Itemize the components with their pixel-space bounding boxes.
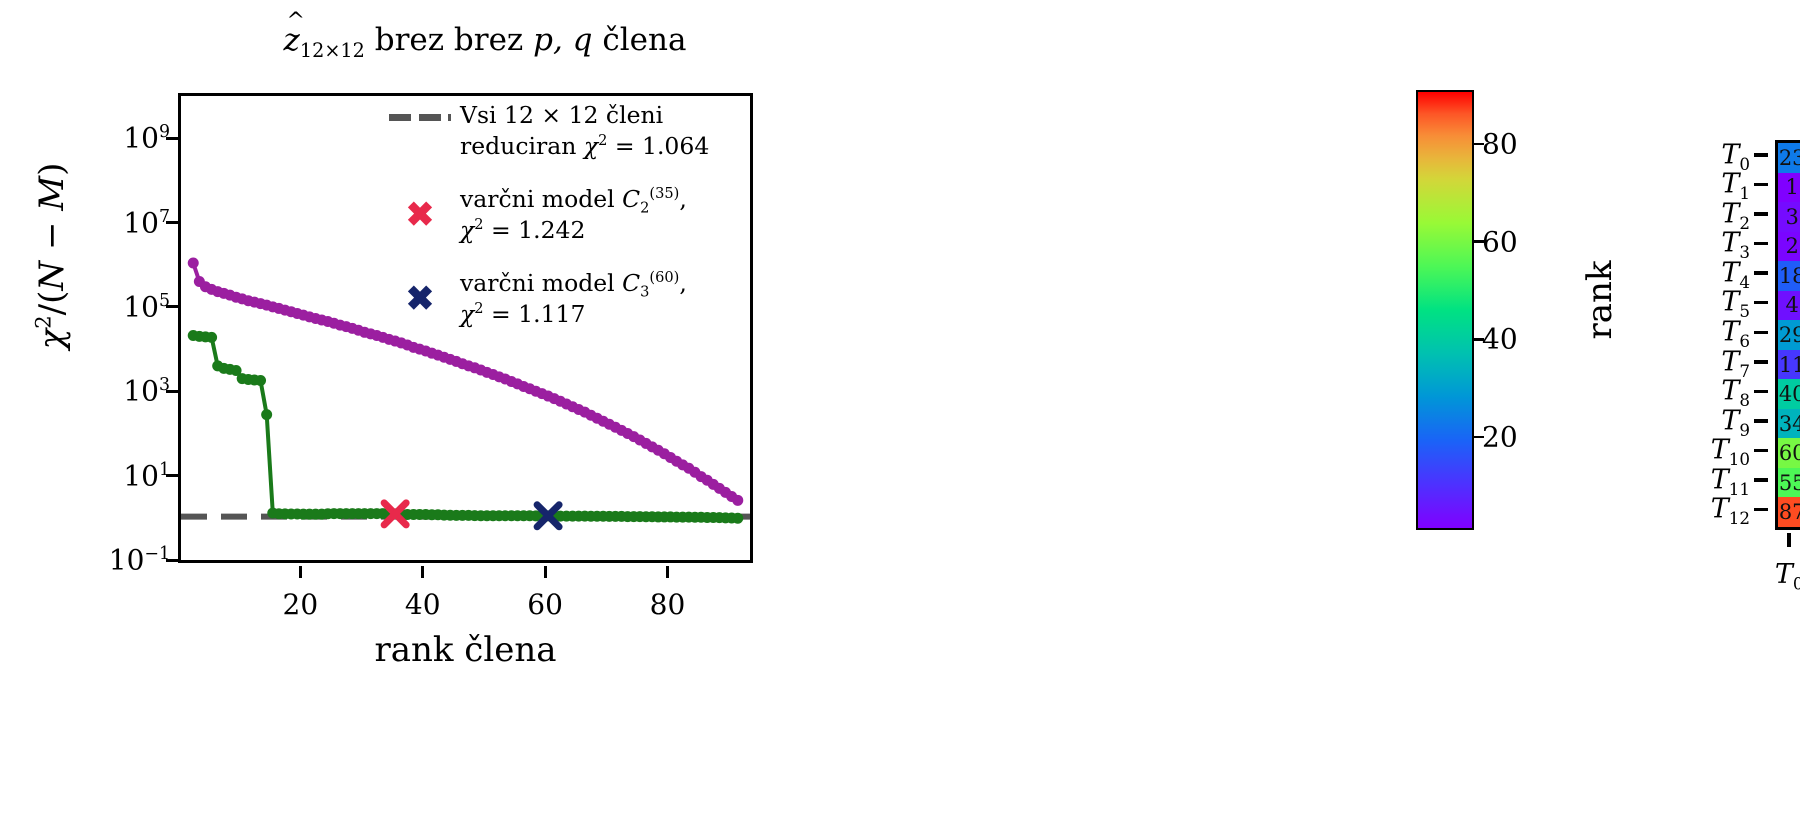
blue-x-swatch: ✖ xyxy=(380,268,460,316)
colorbar-tick-mark xyxy=(1474,240,1484,243)
heatmap-title: rank členov po χ2qp xyxy=(1720,86,1800,122)
red-x-swatch: ✖ xyxy=(380,184,460,232)
heatmap-cell[interactable]: 40 xyxy=(1778,379,1800,409)
heatmap-row-label-8: T8 xyxy=(1721,376,1750,407)
legend-item-model-c3: ✖ varčni model C3(60), χ2 = 1.117 xyxy=(380,268,750,330)
green-curve-point xyxy=(732,513,743,524)
heatmap-cell[interactable]: 60 xyxy=(1778,438,1800,468)
heatmap-cell[interactable]: 2 xyxy=(1778,232,1800,262)
legend-item-model-c3-text: varčni model C3(60), χ2 = 1.117 xyxy=(460,268,687,330)
heatmap-row-tick xyxy=(1754,271,1768,275)
heatmap-row-tick xyxy=(1754,153,1768,157)
y-tick-mark xyxy=(166,559,178,562)
y-axis-ticklabels: 10910710510310110−1 xyxy=(0,93,170,563)
heatmap-row-label-3: T3 xyxy=(1721,228,1750,259)
heatmap-row-tick xyxy=(1754,212,1768,216)
heatmap-panel: rank členov po χ2qp T0T1T2T3T4T5T6T7T8T9… xyxy=(840,0,1800,840)
heatmap-row-tick xyxy=(1754,478,1768,482)
heatmap-cell[interactable]: 11 xyxy=(1778,350,1800,380)
heatmap-col-labels: T0T1T2T3T4T5T6T7T8T9T10T11T12 xyxy=(1775,545,1800,625)
colorbar-tick-mark xyxy=(1474,436,1484,439)
heatmap-cell[interactable]: 18 xyxy=(1778,261,1800,291)
legend-item-model-c2: ✖ varčni model C2(35), χ2 = 1.242 xyxy=(380,184,750,246)
heatmap-row-tick xyxy=(1754,449,1768,453)
heatmap-cell[interactable]: 34 xyxy=(1778,409,1800,439)
heatmap-row-label-6: T6 xyxy=(1721,317,1750,348)
heatmap-row-tick xyxy=(1754,301,1768,305)
legend-chi2-c3: 1.117 xyxy=(518,300,585,328)
heatmap-row-label-2: T2 xyxy=(1721,198,1750,229)
colorbar-tick-label-80: 80 xyxy=(1482,127,1518,160)
y-tick-label-5: 105 xyxy=(123,290,170,323)
heatmap-row-label-1: T1 xyxy=(1721,169,1750,200)
y-tick-mark xyxy=(166,221,178,224)
x-tick-mark xyxy=(421,566,424,578)
colorbar-gradient xyxy=(1418,92,1472,528)
heatmap-grid: 2315658142128374856688319101238324644575… xyxy=(1775,140,1800,530)
heatmap-row-label-10: T10 xyxy=(1711,435,1750,466)
purple-curve-point xyxy=(188,257,199,268)
heatmap-row-tick xyxy=(1754,183,1768,187)
heatmap-cell[interactable]: 87 xyxy=(1778,497,1800,527)
colorbar-tick-label-40: 40 xyxy=(1482,323,1518,356)
colorbar-tick-label-20: 20 xyxy=(1482,421,1518,454)
heatmap-row-tick xyxy=(1754,390,1768,394)
y-axis-label: χ2/(N − M) xyxy=(32,56,72,456)
y-tick-label-9: 109 xyxy=(123,122,170,155)
figure-canvas: ^z12×12 brez brez p, q člena 10910710510… xyxy=(0,0,1800,840)
x-tick-label-20: 20 xyxy=(283,588,319,621)
dashed-line-swatch xyxy=(380,100,460,121)
left-plot-title: ^z12×12 brez brez p, q člena xyxy=(175,22,795,58)
heatmap-row-tick xyxy=(1754,419,1768,423)
heatmap-row-labels: T0T1T2T3T4T5T6T7T8T9T10T11T12 xyxy=(1660,140,1768,530)
heatmap-row-tick xyxy=(1754,242,1768,246)
x-axis-label: rank člena xyxy=(178,630,753,670)
green-curve-point xyxy=(206,332,217,343)
y-tick-label-3: 103 xyxy=(123,375,170,408)
heatmap-col-label-0: T0 xyxy=(1775,559,1800,590)
heatmap-cell[interactable]: 55 xyxy=(1778,468,1800,498)
colorbar-label: rank xyxy=(1580,200,1620,400)
left-plot-panel: ^z12×12 brez brez p, q člena 10910710510… xyxy=(0,0,840,840)
purple-curve-point xyxy=(732,495,743,506)
heatmap-cell[interactable]: 1 xyxy=(1778,173,1800,203)
heatmap-row-label-4: T4 xyxy=(1721,257,1750,288)
y-tick-mark xyxy=(166,474,178,477)
heatmap-row-label-11: T11 xyxy=(1711,464,1750,495)
heatmap-row-label-7: T7 xyxy=(1721,346,1750,377)
heatmap-col-tick xyxy=(1787,533,1791,547)
legend-chi2-all: 1.064 xyxy=(642,132,709,160)
x-tick-label-60: 60 xyxy=(527,588,563,621)
y-tick-label-1: 101 xyxy=(123,459,170,492)
heatmap-row-label-0: T0 xyxy=(1721,139,1750,170)
heatmap-cell[interactable]: 23 xyxy=(1778,143,1800,173)
legend-item-model-c2-text: varčni model C2(35), χ2 = 1.242 xyxy=(460,184,687,246)
legend: Vsi 12 × 12 členi reduciran χ2 = 1.064 ✖… xyxy=(380,100,750,348)
colorbar-tick-mark xyxy=(1474,143,1484,146)
colorbar[interactable] xyxy=(1416,90,1474,530)
y-tick-mark xyxy=(166,390,178,393)
x-tick-label-80: 80 xyxy=(650,588,686,621)
heatmap-row-tick xyxy=(1754,331,1768,335)
x-tick-label-40: 40 xyxy=(405,588,441,621)
heatmap-cell[interactable]: 3 xyxy=(1778,202,1800,232)
colorbar-tick-label-60: 60 xyxy=(1482,225,1518,258)
green-curve-point xyxy=(255,375,266,386)
y-tick-mark xyxy=(166,305,178,308)
x-axis-ticklabels: 20406080 xyxy=(178,576,753,620)
green-curve-point xyxy=(261,409,272,420)
heatmap-cell[interactable]: 4 xyxy=(1778,291,1800,321)
heatmap-row-label-9: T9 xyxy=(1721,405,1750,436)
colorbar-tick-mark xyxy=(1474,338,1484,341)
legend-item-all-terms-text: Vsi 12 × 12 členi reduciran χ2 = 1.064 xyxy=(460,100,709,162)
heatmap-row-tick xyxy=(1754,360,1768,364)
heatmap-row-label-12: T12 xyxy=(1711,494,1750,525)
legend-chi2-c2: 1.242 xyxy=(518,216,585,244)
y-tick-label--1: 10−1 xyxy=(109,544,170,577)
heatmap-row-tick xyxy=(1754,508,1768,512)
y-tick-mark xyxy=(166,137,178,140)
legend-item-all-terms: Vsi 12 × 12 členi reduciran χ2 = 1.064 xyxy=(380,100,750,162)
heatmap-row-label-5: T5 xyxy=(1721,287,1750,318)
heatmap-cell[interactable]: 29 xyxy=(1778,320,1800,350)
x-tick-mark xyxy=(544,566,547,578)
x-tick-mark xyxy=(666,566,669,578)
x-tick-mark xyxy=(299,566,302,578)
y-tick-label-7: 107 xyxy=(123,206,170,239)
